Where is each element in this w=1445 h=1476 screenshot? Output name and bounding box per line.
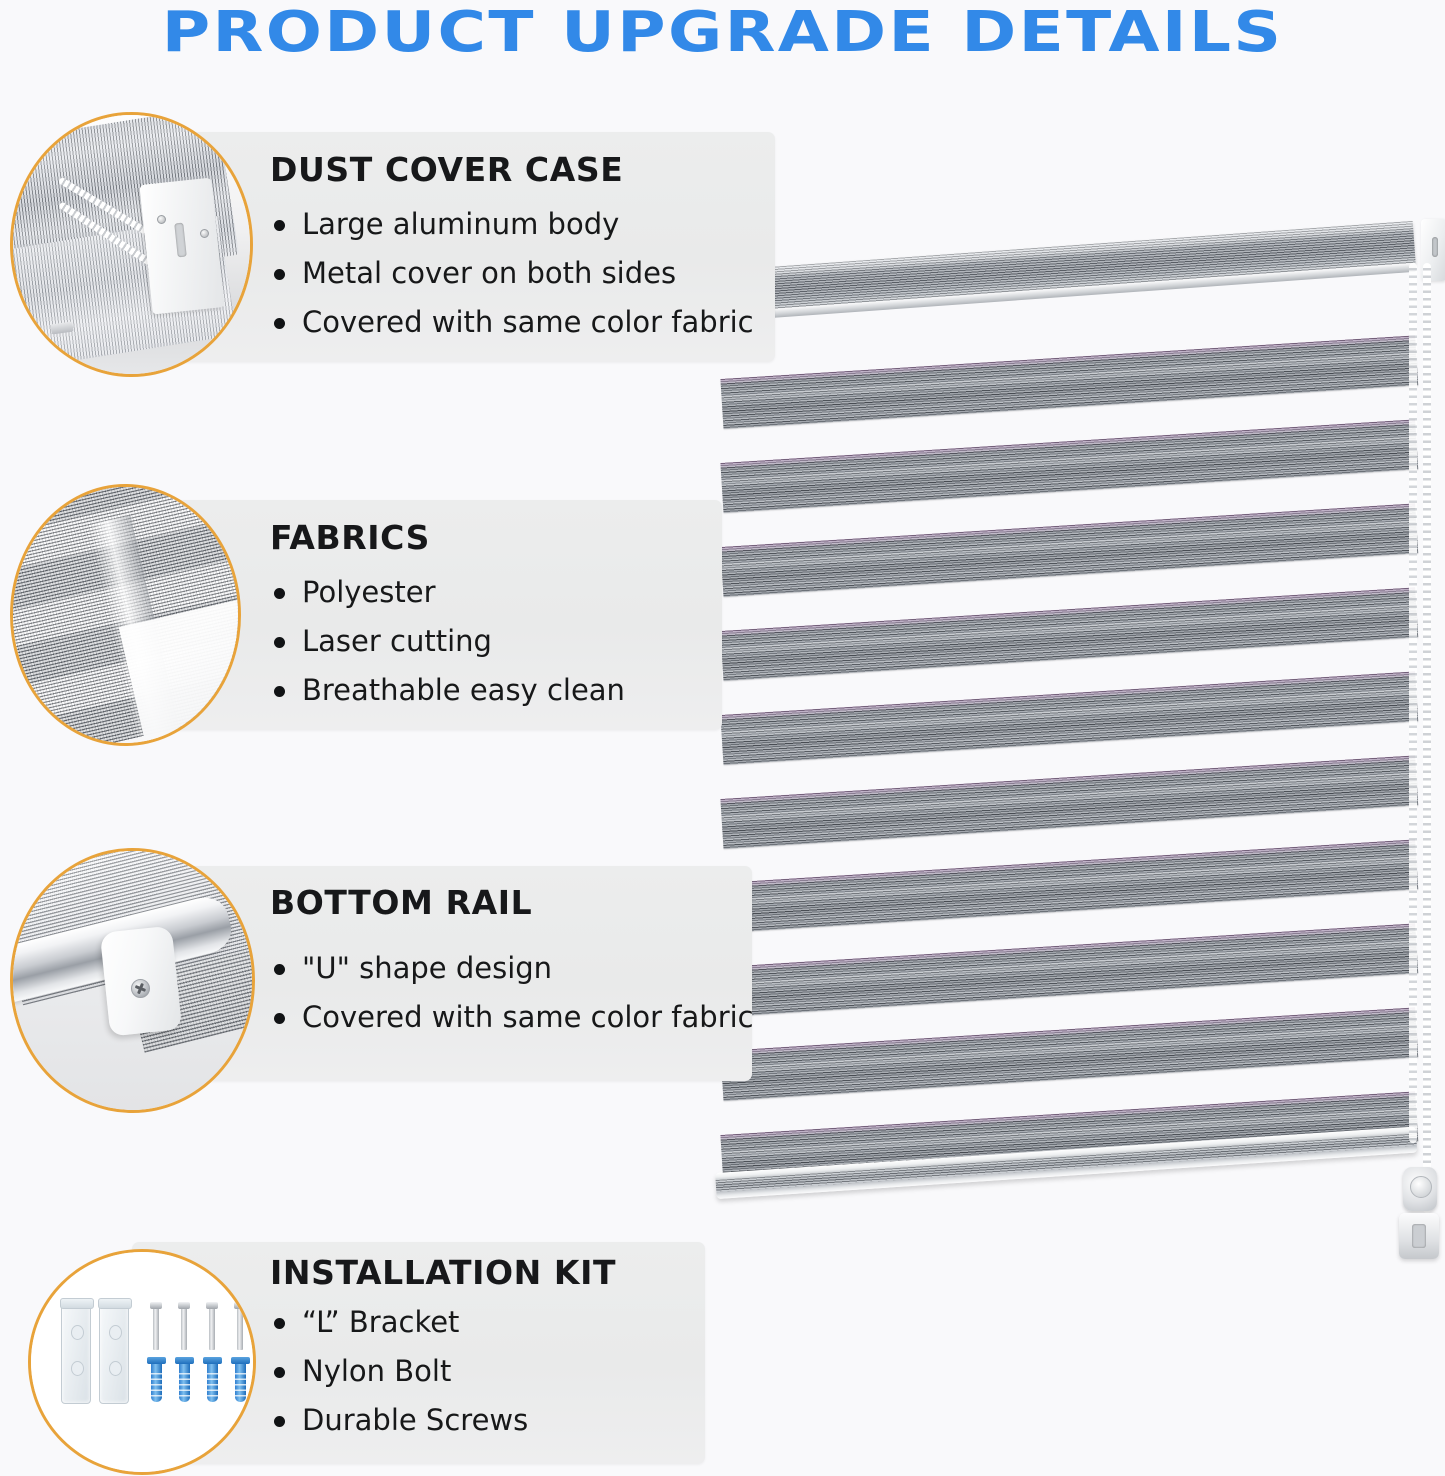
section-heading-dust-cover-case: DUST COVER CASE <box>270 150 623 189</box>
section-heading-bottom-rail: BOTTOM RAIL <box>270 883 532 922</box>
fabric-band <box>720 419 1418 513</box>
screw-icon <box>157 215 166 224</box>
blind-headrail <box>712 221 1415 315</box>
bullet-list-dust-cover-case: Large aluminum body Metal cover on both … <box>270 200 754 347</box>
screw-icon <box>209 1306 215 1350</box>
nylon-bolt-icon <box>151 1362 162 1402</box>
section-heading-fabrics: FABRICS <box>270 518 430 557</box>
nylon-bolt-icon <box>207 1362 218 1402</box>
fabric-band <box>720 503 1418 597</box>
fabric-band <box>720 1007 1418 1101</box>
screw-icon <box>131 979 150 998</box>
screw-icon <box>181 1306 187 1350</box>
bead-chain[interactable] <box>1423 263 1431 1213</box>
fabric-band <box>720 755 1418 849</box>
end-cap-slot <box>1432 237 1438 257</box>
list-item: Laser cutting <box>270 617 625 666</box>
list-item: Covered with same color fabric <box>270 993 754 1042</box>
bullet-list-installation-kit: “L” Bracket Nylon Bolt Durable Screws <box>270 1298 528 1445</box>
nylon-bolt-icon <box>235 1362 246 1402</box>
photo-fabrics <box>10 484 241 746</box>
bullet-list-fabrics: Polyester Laser cutting Breathable easy … <box>270 568 625 715</box>
headrail-texture <box>712 221 1415 315</box>
list-item: Nylon Bolt <box>270 1347 528 1396</box>
bead-chain-back[interactable] <box>1409 263 1417 1143</box>
l-bracket-icon <box>99 1304 129 1404</box>
fabric-band <box>720 839 1418 933</box>
l-bracket-icon <box>61 1304 91 1404</box>
fabric-band <box>720 671 1418 765</box>
list-item: Polyester <box>270 568 625 617</box>
photo-bottom-rail <box>10 848 255 1113</box>
product-image-zebra-blind <box>700 215 1445 1285</box>
list-item: Breathable easy clean <box>270 666 625 715</box>
list-item: "U" shape design <box>270 944 754 993</box>
list-item: Covered with same color fabric <box>270 298 754 347</box>
fabric-band <box>720 923 1418 1017</box>
screw-icon <box>237 1306 243 1350</box>
section-heading-installation-kit: INSTALLATION KIT <box>270 1253 616 1292</box>
list-item: Large aluminum body <box>270 200 754 249</box>
photo-dust-cover-case <box>10 112 253 377</box>
photo-installation-kit <box>28 1249 256 1475</box>
chain-tensioner[interactable] <box>1399 1213 1439 1259</box>
list-item: Metal cover on both sides <box>270 249 754 298</box>
fabric-band <box>720 587 1418 681</box>
page-title: PRODUCT UPGRADE DETAILS <box>0 2 1445 64</box>
chain-connector[interactable] <box>1403 1167 1437 1211</box>
list-item: Durable Screws <box>270 1396 528 1445</box>
fabric-band <box>720 335 1418 429</box>
bullet-list-bottom-rail: "U" shape design Covered with same color… <box>270 944 754 1042</box>
screw-icon <box>153 1306 159 1350</box>
nylon-bolt-icon <box>179 1362 190 1402</box>
infographic-page: PRODUCT UPGRADE DETAILS <box>0 0 1445 1476</box>
screw-icon <box>200 229 209 238</box>
list-item: “L” Bracket <box>270 1298 528 1347</box>
